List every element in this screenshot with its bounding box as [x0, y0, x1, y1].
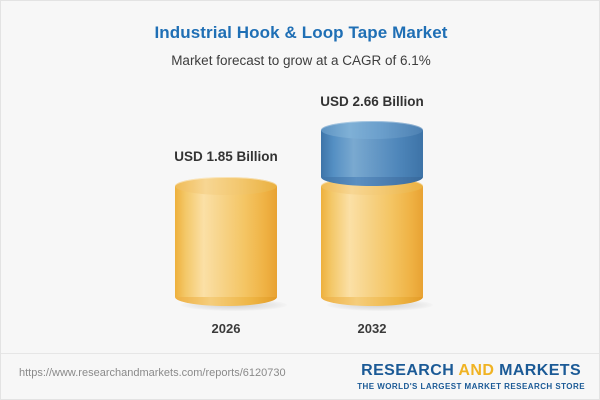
chart-subtitle: Market forecast to grow at a CAGR of 6.1… — [1, 53, 600, 68]
category-label-2026: 2026 — [146, 321, 306, 336]
logo-tagline: THE WORLD'S LARGEST MARKET RESEARCH STOR… — [357, 381, 585, 392]
logo-word-research: RESEARCH — [361, 362, 458, 379]
value-label-2032: USD 2.66 Billion — [292, 94, 452, 109]
research-and-markets-logo[interactable]: RESEARCH AND MARKETS THE WORLD'S LARGEST… — [357, 362, 585, 392]
logo-word-and: AND — [458, 362, 494, 379]
cylinder-segment-base — [175, 177, 277, 306]
cylinder-top-cap — [175, 177, 277, 195]
logo-wordmark: RESEARCH AND MARKETS — [357, 362, 585, 380]
cylinder-top-cap — [321, 121, 423, 139]
chart-title: Industrial Hook & Loop Tape Market — [1, 23, 600, 43]
cylinder-2026[interactable] — [175, 177, 277, 306]
bar-group-2032: USD 2.66 Billion 2032 — [321, 81, 423, 341]
logo-word-markets: MARKETS — [494, 362, 581, 379]
plot-area: USD 1.85 Billion 2026 USD 2.66 Billion — [1, 81, 600, 341]
chart-card: Industrial Hook & Loop Tape Market Marke… — [0, 0, 600, 400]
cylinder-2032[interactable] — [321, 121, 423, 306]
source-url-link[interactable]: https://www.researchandmarkets.com/repor… — [19, 367, 286, 379]
cylinder-segment-growth — [321, 121, 423, 186]
cylinder-segment-base — [321, 177, 423, 306]
bar-group-2026: USD 1.85 Billion 2026 — [175, 81, 277, 341]
footer: https://www.researchandmarkets.com/repor… — [1, 354, 600, 400]
value-label-2026: USD 1.85 Billion — [146, 149, 306, 164]
cylinder-body — [321, 186, 423, 297]
cylinder-body — [175, 186, 277, 297]
category-label-2032: 2032 — [292, 321, 452, 336]
